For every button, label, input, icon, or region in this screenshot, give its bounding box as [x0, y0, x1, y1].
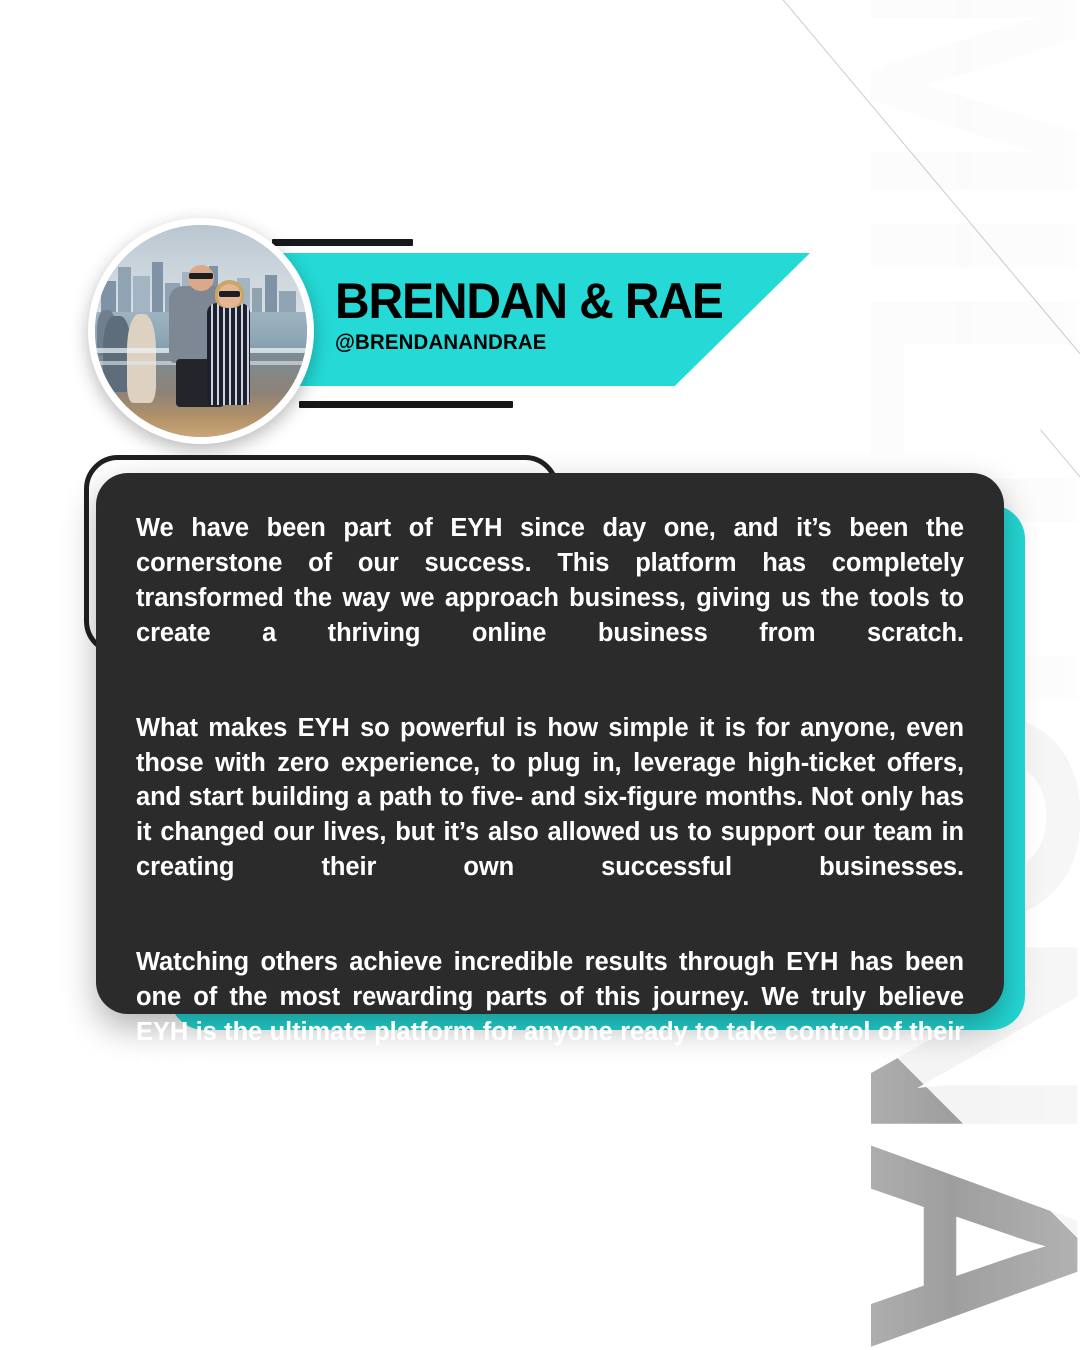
- quote-paragraph: Watching others achieve incredible resul…: [136, 945, 964, 1120]
- quote-paragraph: We have been part of EYH since day one, …: [136, 511, 964, 686]
- name-banner-content: BRENDAN & RAE @BRENDANANDRAE: [335, 276, 755, 355]
- profile-header: BRENDAN & RAE @BRENDANANDRAE: [0, 0, 1080, 470]
- photo-person-woman-body: [207, 303, 249, 405]
- avatar-photo: [95, 225, 307, 437]
- photo-person-woman-sunglasses: [219, 291, 240, 297]
- accent-rule-bottom: [299, 401, 513, 408]
- avatar: [88, 218, 314, 444]
- quote-paragraph: What makes EYH so powerful is how simple…: [136, 711, 964, 921]
- testimonial-graphic: MILLI ONAIRE BRENDAN & RAE @BRENDANANDRA…: [0, 0, 1080, 1350]
- diagonal-hairline-lower: [1040, 429, 1080, 1350]
- quote-card: We have been part of EYH since day one, …: [96, 473, 1004, 1014]
- photo-background-guest-2: [127, 314, 157, 403]
- photo-person-man-sunglasses: [189, 273, 212, 280]
- profile-name: BRENDAN & RAE: [335, 276, 738, 327]
- profile-handle: @BRENDANANDRAE: [335, 331, 742, 355]
